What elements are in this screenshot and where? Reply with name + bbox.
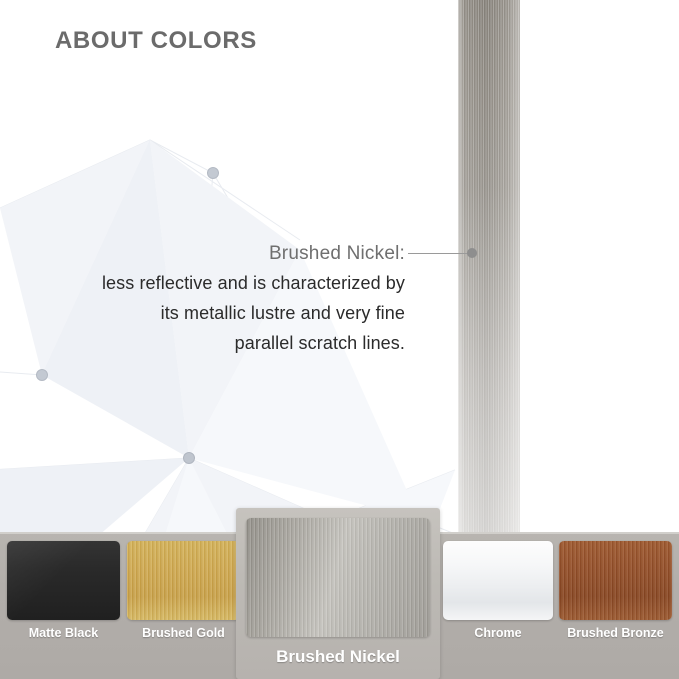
color-finishes-infographic: ABOUT COLORS Brushed Nickel: less reflec… — [0, 0, 679, 679]
swatch-brushed-bronze[interactable] — [559, 541, 672, 620]
callout-leader-dot — [467, 248, 477, 258]
callout-label: Brushed Nickel: — [20, 240, 405, 268]
swatch-label-brushed-nickel: Brushed Nickel — [236, 647, 440, 667]
brushed-nickel-strip — [458, 0, 520, 534]
swatch-brushed-gold[interactable] — [127, 541, 240, 620]
swatch-label-matte-black: Matte Black — [7, 626, 120, 640]
swatch-card-brushed-nickel-selected[interactable]: Brushed Nickel — [236, 508, 440, 679]
callout-body-line-2: its metallic lustre and very fine — [20, 298, 405, 328]
swatch-label-chrome: Chrome — [443, 626, 553, 640]
callout-text-block: Brushed Nickel: less reflective and is c… — [20, 240, 405, 358]
swatch-chrome[interactable] — [443, 541, 553, 620]
callout-body-line-3: parallel scratch lines. — [20, 328, 405, 358]
swatch-brushed-nickel[interactable] — [246, 518, 430, 637]
callout-body: less reflective and is characterized by … — [20, 268, 405, 358]
callout-leader-line — [408, 253, 470, 254]
callout-body-line-1: less reflective and is characterized by — [20, 268, 405, 298]
swatch-matte-black[interactable] — [7, 541, 120, 620]
page-title: ABOUT COLORS — [55, 27, 257, 55]
swatch-label-brushed-gold: Brushed Gold — [127, 626, 240, 640]
swatch-label-brushed-bronze: Brushed Bronze — [559, 626, 672, 640]
